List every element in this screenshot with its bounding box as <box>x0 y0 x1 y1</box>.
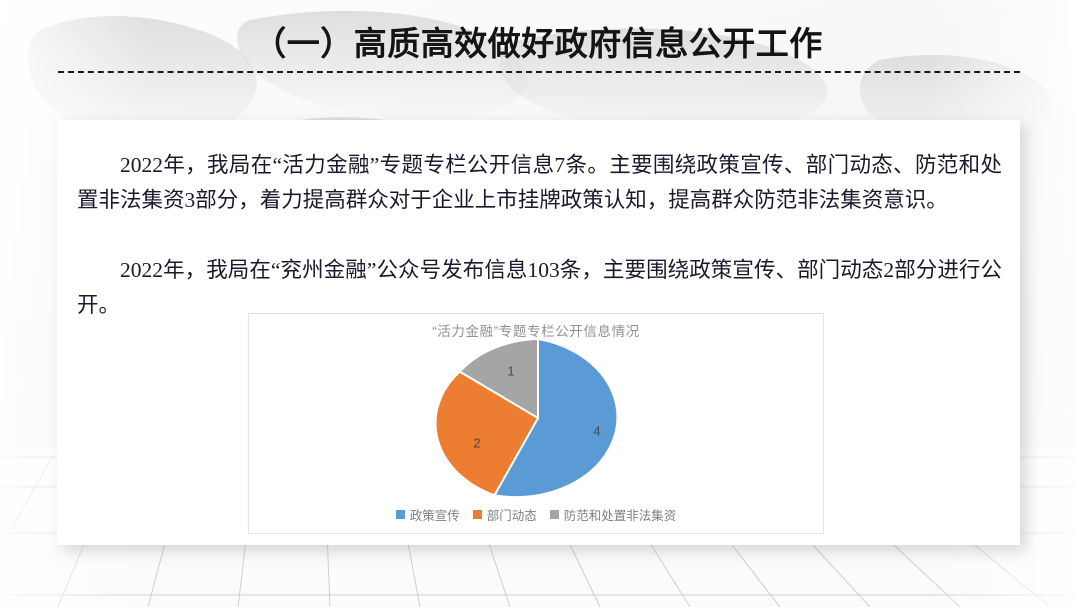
legend-item-0[interactable]: 政策宣传 <box>396 505 460 524</box>
legend-swatch-icon-2 <box>550 510 559 519</box>
pie-data-label-1: 2 <box>473 435 480 450</box>
slide-root: （一）高质高效做好政府信息公开工作 2022年，我局在“活力金融”专题专栏公开信… <box>0 0 1076 607</box>
legend-item-2[interactable]: 防范和处置非法集资 <box>550 505 677 524</box>
legend-item-1[interactable]: 部门动态 <box>473 505 537 524</box>
legend-label-1: 部门动态 <box>487 505 537 524</box>
pie-chart-plot: 4 2 1 <box>249 336 825 501</box>
chart-legend: 政策宣传 部门动态 防范和处置非法集资 <box>249 505 823 524</box>
legend-swatch-icon-0 <box>396 510 405 519</box>
page-title: （一）高质高效做好政府信息公开工作 <box>0 25 1076 65</box>
legend-label-0: 政策宣传 <box>410 505 460 524</box>
content-panel: 2022年，我局在“活力金融”专题专栏公开信息7条。主要围绕政策宣传、部门动态、… <box>57 120 1020 545</box>
body-paragraph-1: 2022年，我局在“活力金融”专题专栏公开信息7条。主要围绕政策宣传、部门动态、… <box>77 148 1002 218</box>
pie-chart-card: “活力金融”专题专栏公开信息情况 4 2 1 <box>248 313 824 534</box>
legend-swatch-icon-1 <box>473 510 482 519</box>
legend-label-2: 防范和处置非法集资 <box>564 505 677 524</box>
pie-data-label-0: 4 <box>593 423 600 438</box>
pie-data-label-2: 1 <box>507 363 514 378</box>
title-divider <box>58 71 1020 73</box>
